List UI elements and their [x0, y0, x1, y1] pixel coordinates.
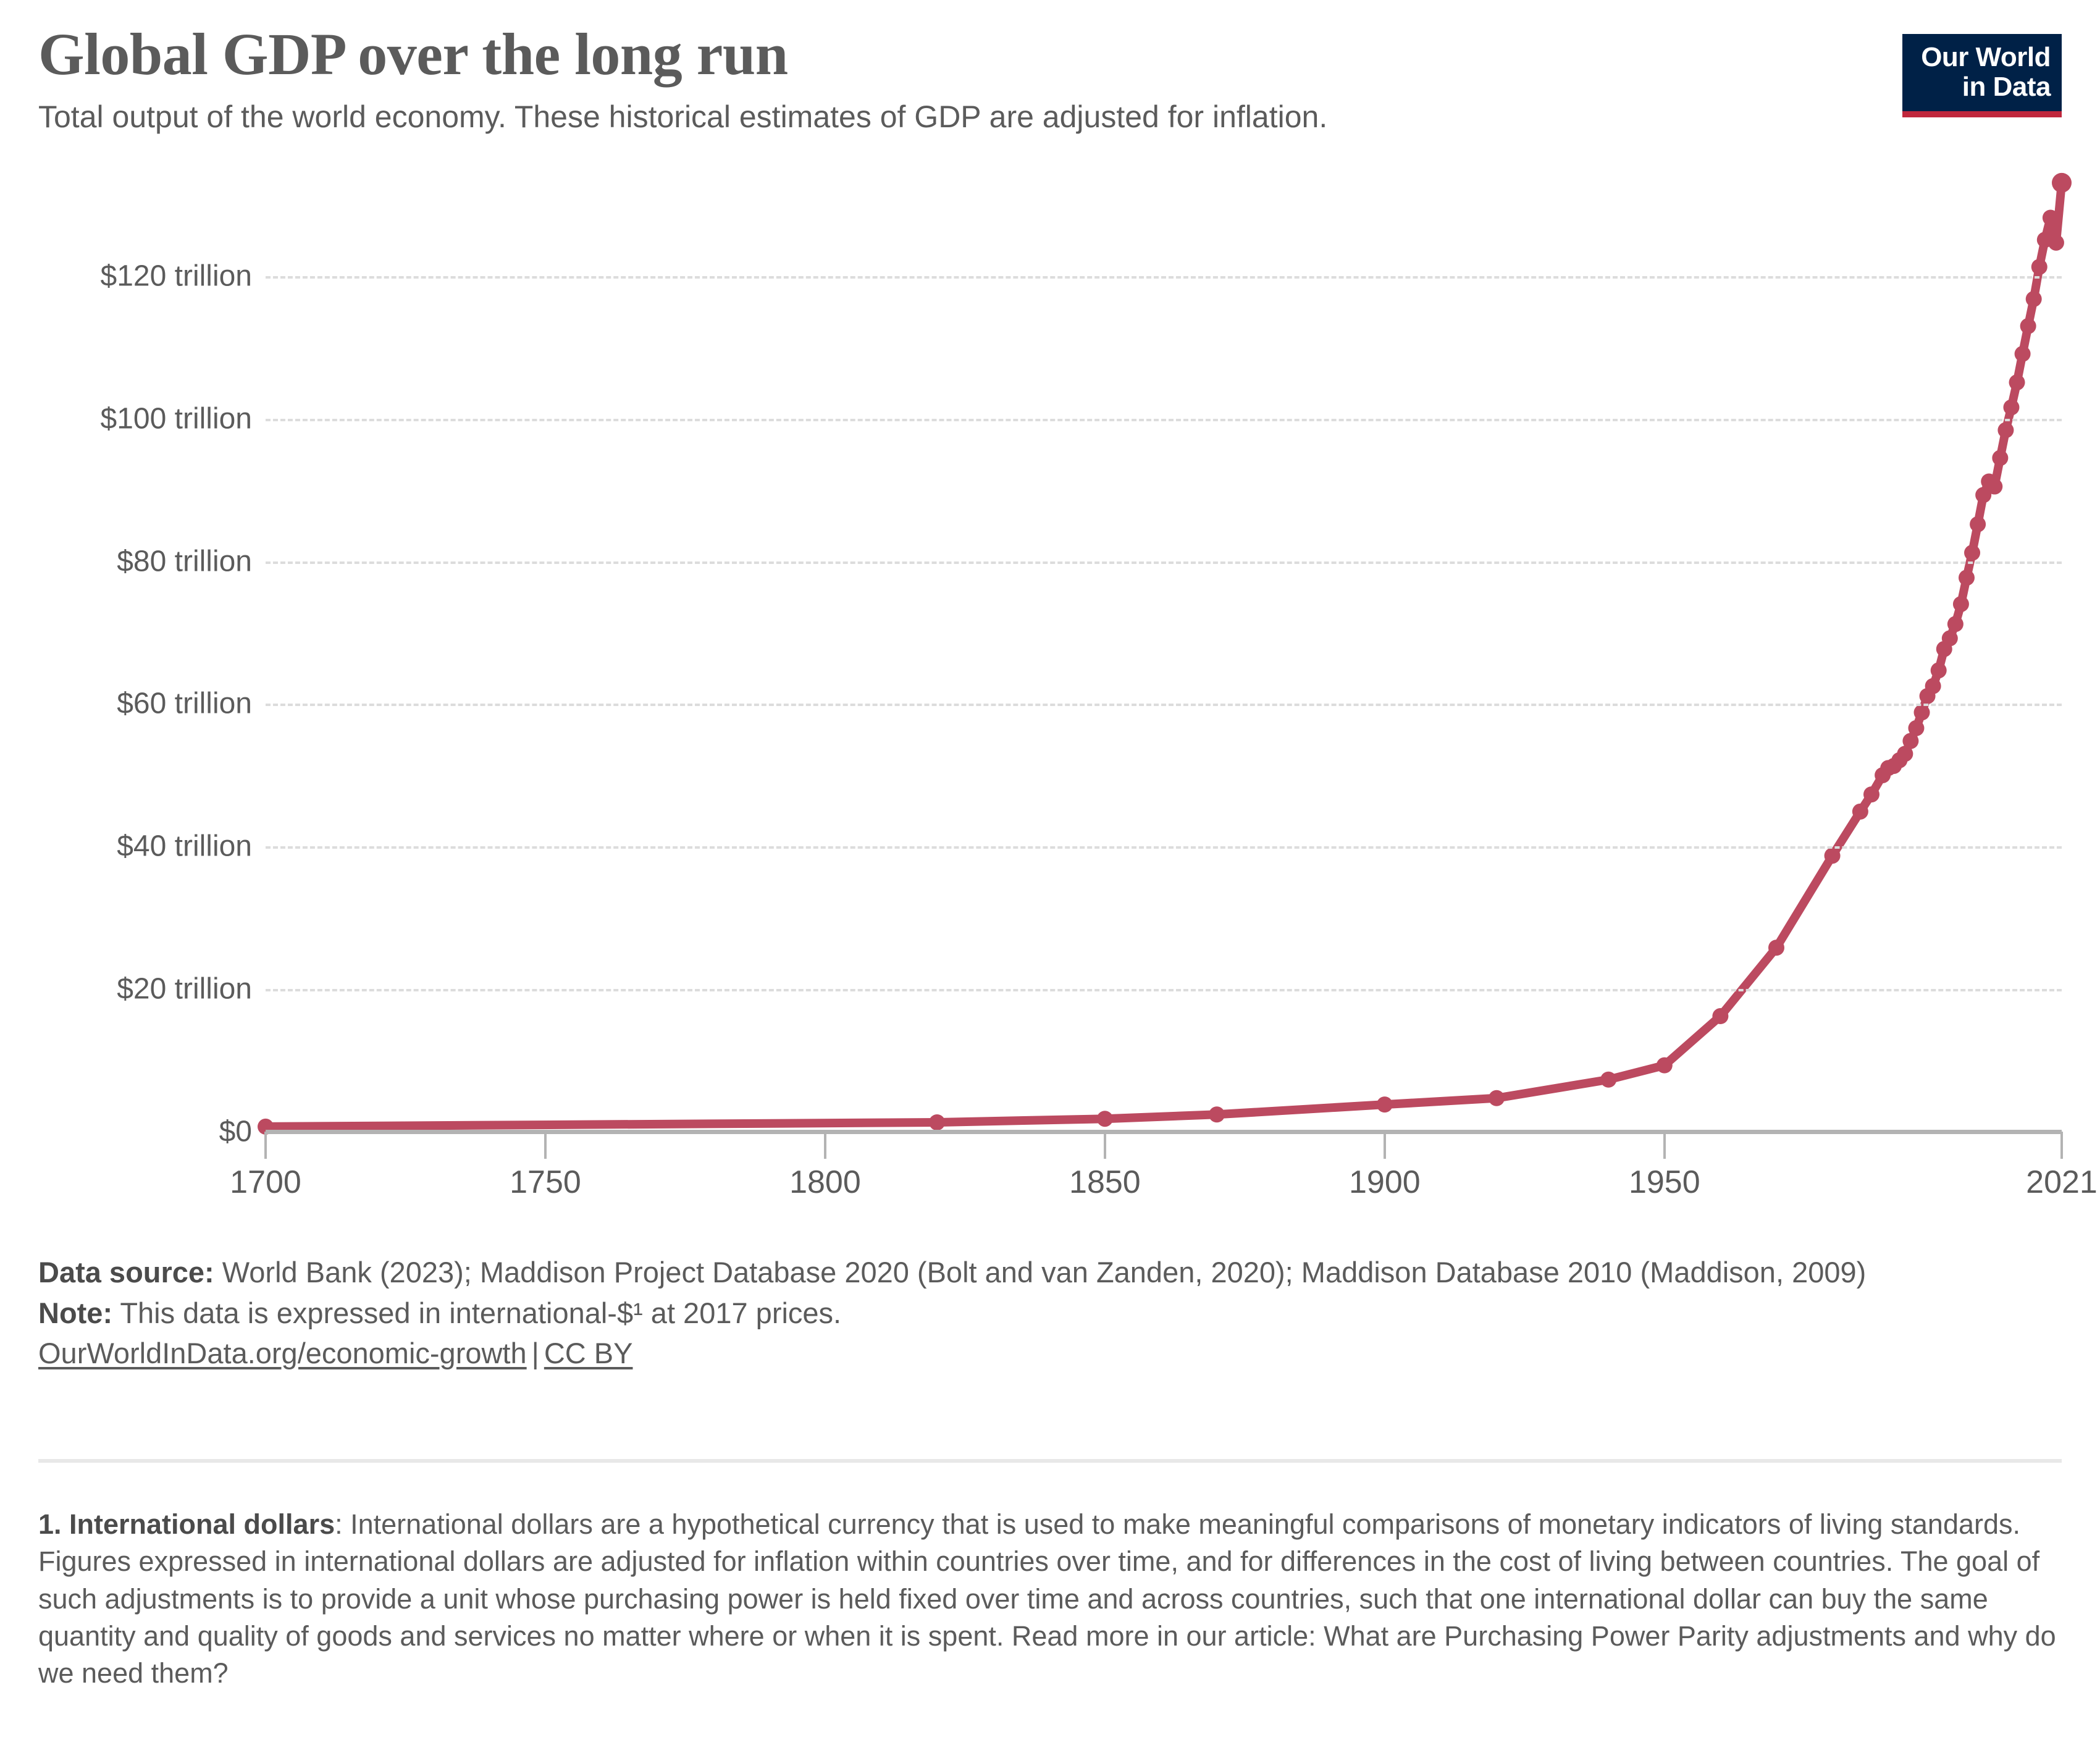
note-label: Note: — [38, 1297, 112, 1329]
x-axis-tick — [544, 1132, 547, 1159]
data-point[interactable] — [1908, 720, 1924, 736]
y-axis-tick-label: $20 trillion — [117, 972, 252, 1006]
data-point[interactable] — [1600, 1072, 1616, 1088]
x-axis-line — [266, 1130, 2062, 1134]
data-point[interactable] — [1377, 1096, 1393, 1112]
license-link[interactable]: CC BY — [544, 1337, 633, 1369]
footer-links: OurWorldInData.org/economic-growth|CC BY — [38, 1336, 2062, 1370]
data-point[interactable] — [1712, 1008, 1728, 1024]
y-axis-tick-label: $100 trillion — [101, 402, 252, 435]
data-point[interactable] — [1657, 1057, 1673, 1073]
data-point[interactable] — [1863, 786, 1879, 802]
chart-page: Global GDP over the long run Total outpu… — [0, 0, 2100, 1745]
x-axis-tick-label: 1750 — [510, 1164, 581, 1201]
x-axis-tick-label: 1700 — [230, 1164, 301, 1201]
data-point[interactable] — [2052, 173, 2072, 193]
data-point[interactable] — [2003, 399, 2019, 415]
chart-footer: Data source: World Bank (2023); Maddison… — [38, 1254, 2062, 1370]
note-text: This data is expressed in international-… — [120, 1297, 841, 1329]
note-line: Note: This data is expressed in internat… — [38, 1295, 2062, 1332]
x-axis-tick — [1104, 1132, 1106, 1159]
data-point[interactable] — [1947, 616, 1963, 632]
data-point[interactable] — [1986, 478, 2002, 494]
data-point[interactable] — [1964, 545, 1980, 561]
x-axis-tick-label: 1900 — [1349, 1164, 1421, 1201]
x-axis-tick — [1384, 1132, 1386, 1159]
data-point[interactable] — [2026, 291, 2042, 307]
data-point[interactable] — [1942, 630, 1958, 646]
y-axis-tick-label: $40 trillion — [117, 830, 252, 864]
data-point[interactable] — [1825, 847, 1841, 864]
data-point[interactable] — [1953, 596, 1969, 612]
data-point[interactable] — [2015, 346, 2031, 362]
data-point[interactable] — [1489, 1090, 1505, 1106]
data-point[interactable] — [2031, 259, 2047, 275]
data-point[interactable] — [1852, 804, 1868, 820]
logo-box: Our World in Data — [1902, 34, 2062, 111]
gridline — [266, 704, 2062, 706]
data-point[interactable] — [1997, 422, 2014, 438]
y-axis-tick-label: $60 trillion — [117, 687, 252, 721]
x-axis-tick — [824, 1132, 826, 1159]
footnote-marker: 1. International dollars — [38, 1508, 335, 1540]
data-source-line: Data source: World Bank (2023); Maddison… — [38, 1254, 2062, 1291]
y-axis-tick-label: $120 trillion — [101, 259, 252, 293]
y-axis-tick-label: $80 trillion — [117, 544, 252, 578]
data-point[interactable] — [1970, 516, 1986, 532]
page-subtitle: Total output of the world economy. These… — [38, 97, 2062, 137]
data-point[interactable] — [1768, 940, 1784, 956]
owid-url-link[interactable]: OurWorldInData.org/economic-growth — [38, 1337, 527, 1369]
data-point[interactable] — [1959, 570, 1975, 586]
gridline — [266, 561, 2062, 564]
gridline — [266, 846, 2062, 849]
page-title: Global GDP over the long run — [38, 23, 2062, 86]
data-point[interactable] — [2009, 374, 2025, 390]
owid-logo[interactable]: Our World in Data — [1902, 34, 2062, 117]
data-point[interactable] — [1992, 450, 2008, 466]
x-axis-tick — [2060, 1132, 2063, 1159]
line-series-world-gdp — [266, 169, 2062, 1132]
data-point[interactable] — [2043, 209, 2059, 225]
data-point[interactable] — [1925, 678, 1941, 694]
data-point[interactable] — [1914, 704, 1930, 720]
x-axis-tick-label: 1800 — [789, 1164, 861, 1201]
data-point[interactable] — [2020, 318, 2036, 334]
chart-container: $0$20 trillion$40 trillion$60 trillion$8… — [38, 169, 2062, 1195]
data-point[interactable] — [1931, 662, 1947, 678]
link-separator: | — [527, 1337, 544, 1369]
data-source-label: Data source: — [38, 1256, 214, 1289]
data-source-text: World Bank (2023); Maddison Project Data… — [222, 1256, 1867, 1289]
footnote-text: : International dollars are a hypothetic… — [38, 1508, 2056, 1689]
x-axis-tick-label: 1950 — [1629, 1164, 1700, 1201]
data-point[interactable] — [1097, 1111, 1113, 1127]
plot-area[interactable]: $0$20 trillion$40 trillion$60 trillion$8… — [266, 169, 2062, 1132]
x-axis-tick-label: 1850 — [1069, 1164, 1141, 1201]
x-axis-tick — [1663, 1132, 1666, 1159]
x-axis-tick-label: 2021 — [2026, 1164, 2098, 1201]
gridline — [266, 419, 2062, 421]
y-axis-tick-label: $0 — [219, 1114, 252, 1148]
logo-accent-bar — [1902, 111, 2062, 117]
gridline — [266, 989, 2062, 991]
gridline — [266, 276, 2062, 279]
data-point[interactable] — [2048, 235, 2064, 251]
logo-line-1: Our World — [1913, 43, 2051, 72]
chart-header: Global GDP over the long run Total outpu… — [38, 0, 2062, 137]
x-axis-tick — [264, 1132, 267, 1159]
footer-divider — [38, 1459, 2062, 1463]
footnote-block: 1. International dollars: International … — [38, 1506, 2062, 1692]
logo-line-2: in Data — [1913, 72, 2051, 102]
data-point[interactable] — [1209, 1106, 1225, 1122]
data-point[interactable] — [929, 1114, 945, 1130]
series-line — [266, 183, 2062, 1127]
